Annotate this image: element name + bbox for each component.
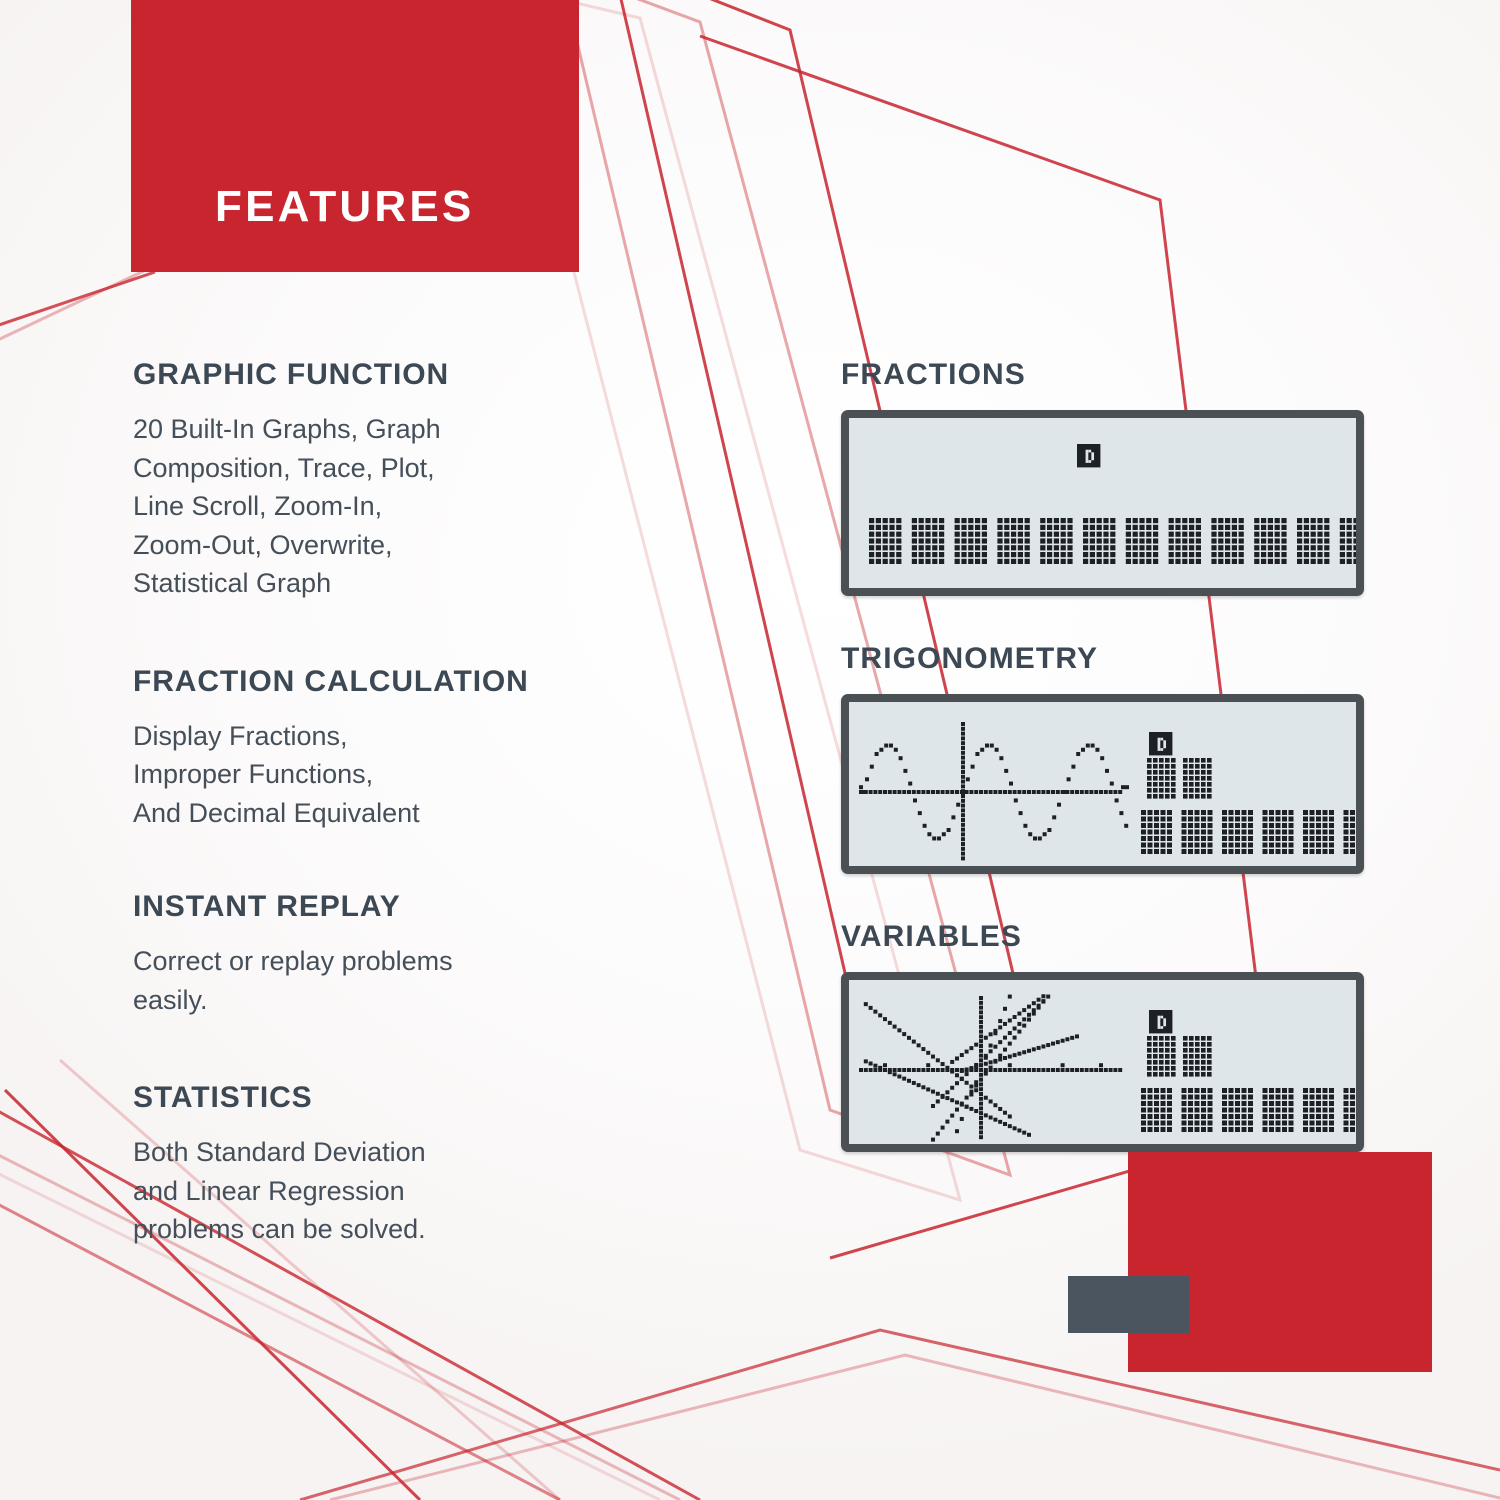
screen-heading: VARIABLES <box>841 920 1371 954</box>
feature-heading: GRAPHIC FUNCTION <box>133 358 713 392</box>
feature-heading: STATISTICS <box>133 1081 713 1115</box>
features-left-column: GRAPHIC FUNCTION 20 Built-In Graphs, Gra… <box>133 358 713 1249</box>
lcd-dot-matrix-fractions <box>849 418 1356 588</box>
feature-heading: FRACTION CALCULATION <box>133 665 713 699</box>
feature-graphic-function: GRAPHIC FUNCTION 20 Built-In Graphs, Gra… <box>133 358 713 603</box>
screen-group-fractions: FRACTIONS <box>841 358 1371 596</box>
feature-body: Display Fractions, Improper Functions, A… <box>133 717 713 833</box>
lcd-display-fractions <box>841 410 1364 596</box>
features-right-column: FRACTIONS TRIGONOMETRY VARIABLES <box>841 358 1371 1152</box>
screen-heading: TRIGONOMETRY <box>841 642 1371 676</box>
feature-body: 20 Built-In Graphs, Graph Composition, T… <box>133 410 713 603</box>
screen-group-variables: VARIABLES <box>841 920 1371 1152</box>
feature-heading: INSTANT REPLAY <box>133 890 713 924</box>
lcd-display-variables <box>841 972 1364 1152</box>
features-header-block: FEATURES <box>131 0 579 272</box>
gray-accent-block <box>1068 1276 1189 1333</box>
feature-statistics: STATISTICS Both Standard Deviation and L… <box>133 1081 713 1249</box>
red-accent-block <box>1128 1152 1432 1372</box>
feature-body: Correct or replay problems easily. <box>133 942 713 1019</box>
screen-heading: FRACTIONS <box>841 358 1371 392</box>
lcd-dot-matrix-trigonometry <box>849 702 1356 866</box>
screen-group-trigonometry: TRIGONOMETRY <box>841 642 1371 874</box>
lcd-dot-matrix-variables <box>849 980 1356 1144</box>
lcd-display-trigonometry <box>841 694 1364 874</box>
feature-fraction-calculation: FRACTION CALCULATION Display Fractions, … <box>133 665 713 833</box>
page-title: FEATURES <box>215 182 474 232</box>
feature-instant-replay: INSTANT REPLAY Correct or replay problem… <box>133 890 713 1019</box>
feature-body: Both Standard Deviation and Linear Regre… <box>133 1133 713 1249</box>
